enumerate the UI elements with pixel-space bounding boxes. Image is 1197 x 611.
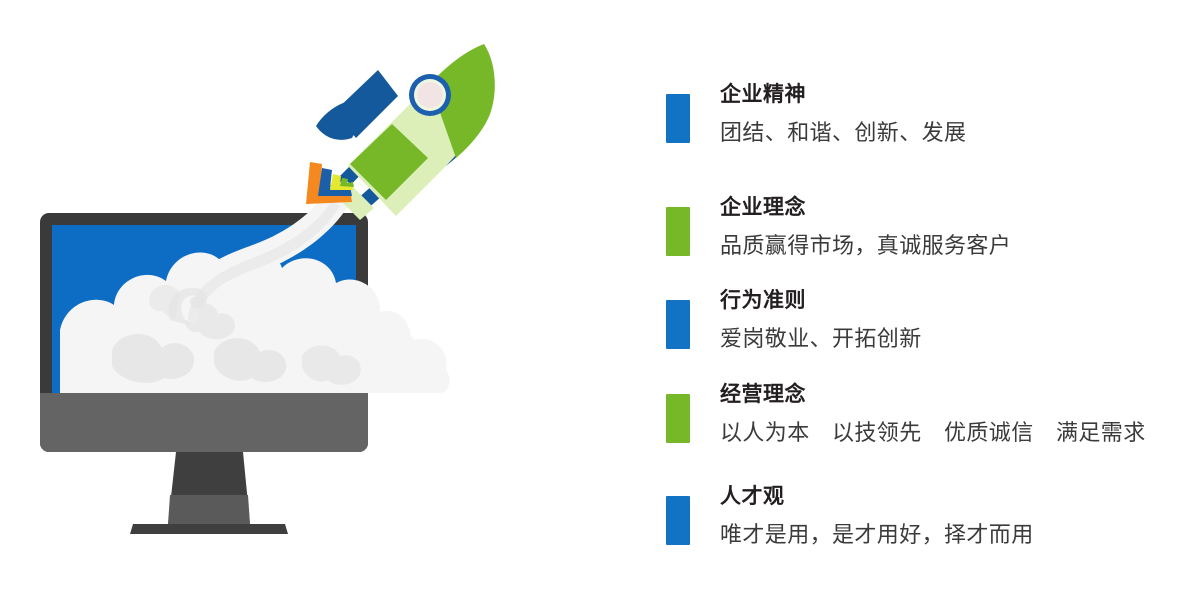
illustration-svg	[0, 0, 560, 606]
value-marker-blue	[666, 496, 690, 545]
value-title: 人才观	[720, 482, 1175, 512]
value-description: 以人为本 以技领先 优质诚信 满足需求	[720, 416, 1175, 450]
rocket-flame	[306, 162, 354, 204]
value-title: 企业理念	[720, 193, 1175, 223]
value-marker-green	[666, 394, 690, 443]
company-values-list: 企业精神 团结、和谐、创新、发展 企业理念 品质赢得市场，真诚服务客户 行为准则…	[655, 80, 1175, 590]
value-title: 经营理念	[720, 380, 1175, 410]
monitor-stand	[130, 452, 288, 534]
rocket-window-icon	[409, 74, 451, 116]
value-description: 品质赢得市场，真诚服务客户	[720, 229, 1175, 263]
value-title: 企业精神	[720, 80, 1175, 110]
value-marker-blue	[666, 300, 690, 349]
value-text-block: 企业精神 团结、和谐、创新、发展	[720, 80, 1175, 150]
value-description: 团结、和谐、创新、发展	[720, 116, 1175, 150]
value-text-block: 经营理念 以人为本 以技领先 优质诚信 满足需求	[720, 380, 1175, 450]
value-text-block: 企业理念 品质赢得市场，真诚服务客户	[720, 193, 1175, 263]
value-marker-blue	[666, 94, 690, 143]
value-marker-green	[666, 207, 690, 256]
value-text-block: 人才观 唯才是用，是才用好，择才而用	[720, 482, 1175, 552]
value-description: 爱岗敬业、开拓创新	[720, 322, 1175, 356]
rocket-monitor-illustration	[0, 0, 560, 606]
value-text-block: 行为准则 爱岗敬业、开拓创新	[720, 286, 1175, 356]
value-title: 行为准则	[720, 286, 1175, 316]
value-description: 唯才是用，是才用好，择才而用	[720, 518, 1175, 552]
